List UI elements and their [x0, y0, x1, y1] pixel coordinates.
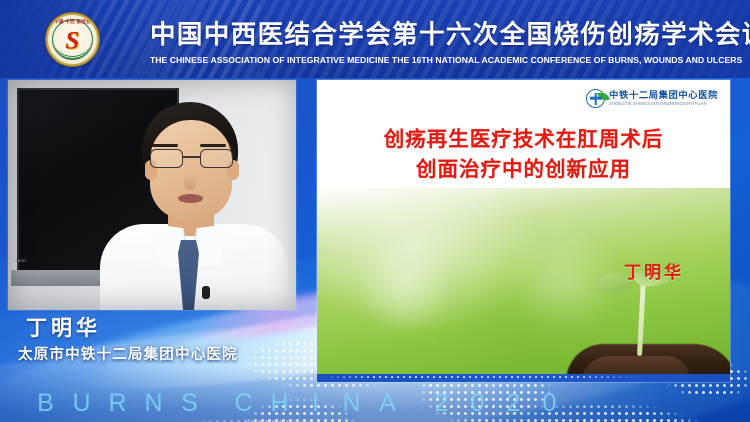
- slide-footer-dots: [317, 374, 730, 382]
- speaker-video-feed[interactable]: Haier: [8, 80, 296, 310]
- emblem-circle: 中国 中西 医结合 S: [46, 13, 99, 66]
- lower-third-caption: 丁明华 太原市中铁十二局集团中心医院: [0, 312, 300, 364]
- slide-title-line-1: 创疡再生医疗技术在肛周术后: [317, 124, 730, 154]
- hospital-name-cn: 中铁十二局集团中心医院: [609, 90, 718, 101]
- slide-title-area: 中铁十二局集团中心医院 ZHONGTIE SHIERJUJITUANZHONGX…: [317, 80, 730, 188]
- video-vignette: [8, 80, 296, 310]
- hospital-cross-icon: [586, 89, 605, 108]
- slide-sprout-image: [317, 188, 730, 382]
- slide-author-name: 丁明华: [624, 258, 684, 283]
- broadcast-stage: 中国 中西 医结合 S 中国中西医结合学会第十六次全国烧伤创疡学术会议 THE …: [0, 0, 750, 422]
- wordmark-burns: BURNS: [28, 389, 208, 418]
- conference-title-cn: 中国中西医结合学会第十六次全国烧伤创疡学术会议: [150, 18, 740, 52]
- hospital-name-pinyin: ZHONGTIE SHIERJUJITUANZHONGXINYIYUAN: [609, 101, 718, 107]
- conference-title-en: THE CHINESE ASSOCIATION OF INTEGRATIVE M…: [150, 55, 740, 65]
- conference-emblem-logo: 中国 中西 医结合 S: [36, 13, 108, 69]
- slide-title-line-2: 创面治疗中的创新应用: [317, 154, 730, 184]
- caption-speaker-org: 太原市中铁十二局集团中心医院: [18, 343, 238, 364]
- slide-bokeh-1: [350, 242, 460, 332]
- slide-footer-band: [317, 374, 730, 382]
- wordmark-year: 2020: [424, 389, 568, 418]
- slide-title: 创疡再生医疗技术在肛周术后 创面治疗中的创新应用: [317, 124, 730, 184]
- emblem-top-text: 中国 中西 医结合: [48, 19, 97, 25]
- wordmark-china: CHINA: [226, 389, 406, 418]
- event-wordmark: BURNS CHINA 2020: [0, 386, 750, 420]
- presentation-slide[interactable]: 中铁十二局集团中心医院 ZHONGTIE SHIERJUJITUANZHONGX…: [317, 80, 730, 382]
- conference-header-banner: 中国 中西 医结合 S 中国中西医结合学会第十六次全国烧伤创疡学术会议 THE …: [0, 0, 750, 78]
- hospital-logo: 中铁十二局集团中心医院 ZHONGTIE SHIERJUJITUANZHONGX…: [586, 86, 718, 110]
- hospital-leaf-icon: [597, 90, 610, 101]
- emblem-monogram: S: [66, 28, 80, 53]
- caption-speaker-name: 丁明华: [26, 312, 101, 342]
- hospital-logo-text: 中铁十二局集团中心医院 ZHONGTIE SHIERJUJITUANZHONGX…: [609, 90, 718, 107]
